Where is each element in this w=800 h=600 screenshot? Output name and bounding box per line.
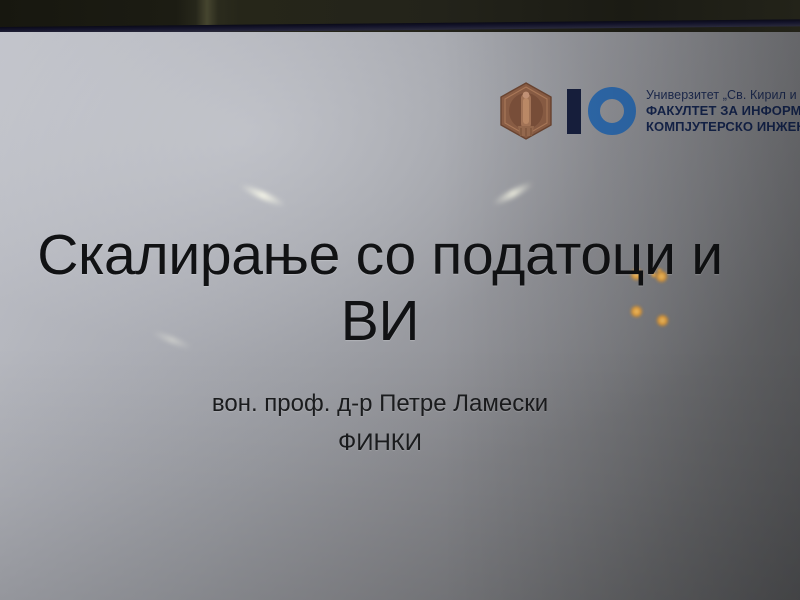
slide-subtitle: вон. проф. д-р Петре Ламески ФИНКИ [20, 384, 740, 462]
io-wordmark-icon [561, 83, 639, 139]
io-letter-i [567, 89, 581, 134]
projection-screen: Универзитет „Св. Кирил и Мет ФАКУЛТЕТ ЗА… [0, 32, 800, 600]
slide-title-line-2: ВИ [10, 288, 750, 354]
lens-flare-streak [239, 182, 288, 209]
slide-affiliation: ФИНКИ [20, 423, 740, 462]
logo-university-line: Универзитет „Св. Кирил и Мет [646, 88, 800, 103]
logo-department-line: КОМПЈУТЕРСКО ИНЖЕНЕРСТ [646, 119, 800, 135]
faculty-logo: Универзитет „Св. Кирил и Мет ФАКУЛТЕТ ЗА… [498, 76, 800, 146]
io-letter-o [588, 87, 636, 135]
lens-flare-streak [491, 180, 535, 208]
slide-presenter-name: вон. проф. д-р Петре Ламески [20, 384, 740, 423]
slide-title-line-1: Скалирање со податоци и [10, 222, 750, 288]
faculty-logo-text: Универзитет „Св. Кирил и Мет ФАКУЛТЕТ ЗА… [646, 87, 800, 135]
photo-scene: Универзитет „Св. Кирил и Мет ФАКУЛТЕТ ЗА… [0, 0, 800, 600]
university-crest-icon [498, 82, 554, 140]
logo-faculty-line: ФАКУЛТЕТ ЗА ИНФОРМАТИЧ [646, 103, 800, 119]
slide-title: Скалирање со податоци и ВИ [10, 222, 750, 354]
